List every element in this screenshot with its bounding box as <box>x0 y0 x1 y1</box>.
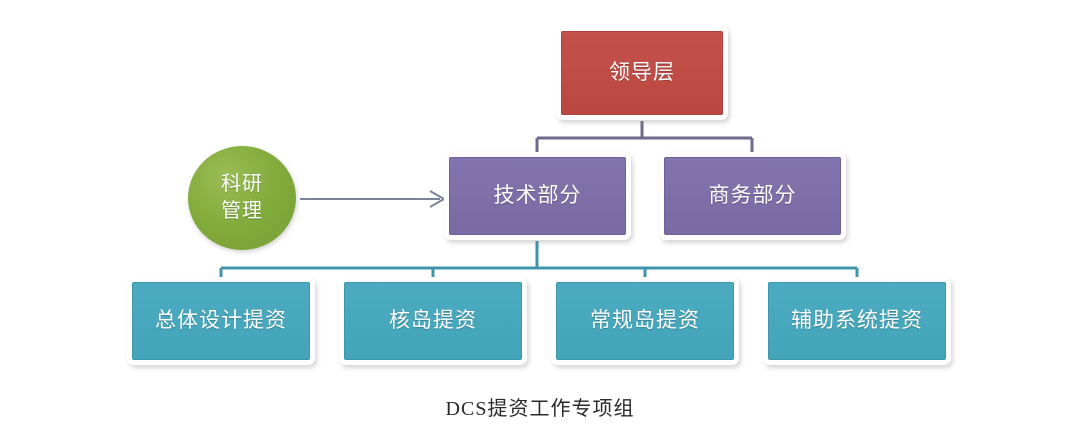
node-leadership-fill: 领导层 <box>561 31 723 115</box>
node-technical-section[interactable]: 技术部分 <box>444 152 631 240</box>
node-leadership-label: 领导层 <box>609 60 675 86</box>
node-business-section[interactable]: 商务部分 <box>659 152 846 240</box>
node-overall-design[interactable]: 总体设计提资 <box>127 277 315 365</box>
node-research-management[interactable]: 科研 管理 <box>188 146 296 250</box>
node-conventional-island-label: 常规岛提资 <box>590 308 700 334</box>
node-overall-design-fill: 总体设计提资 <box>132 282 310 360</box>
node-research-management-label: 科研 管理 <box>221 171 263 225</box>
node-conventional-island-fill: 常规岛提资 <box>556 282 734 360</box>
node-technical-section-label: 技术部分 <box>494 183 582 209</box>
org-chart-canvas: 科研 管理 领导层 技术部分 商务部分 总体设计提资 核岛提资 常规岛提资 <box>0 0 1080 427</box>
research-label-line-1: 科研 <box>221 171 263 198</box>
connector-leadership-to-departments <box>537 121 752 152</box>
node-business-section-fill: 商务部分 <box>664 157 841 235</box>
node-conventional-island[interactable]: 常规岛提资 <box>551 277 739 365</box>
node-nuclear-island-label: 核岛提资 <box>389 308 477 334</box>
node-nuclear-island-fill: 核岛提资 <box>344 282 522 360</box>
node-leadership[interactable]: 领导层 <box>556 26 728 120</box>
research-label-line-2: 管理 <box>221 198 263 225</box>
node-overall-design-label: 总体设计提资 <box>155 308 287 334</box>
connector-research-to-technical <box>300 191 444 207</box>
diagram-caption: DCS提资工作专项组 <box>0 392 1080 421</box>
node-auxiliary-system-fill: 辅助系统提资 <box>768 282 946 360</box>
node-auxiliary-system[interactable]: 辅助系统提资 <box>763 277 951 365</box>
node-technical-section-fill: 技术部分 <box>449 157 626 235</box>
connector-technical-to-subteams <box>221 241 857 277</box>
node-nuclear-island[interactable]: 核岛提资 <box>339 277 527 365</box>
node-business-section-label: 商务部分 <box>709 183 797 209</box>
node-auxiliary-system-label: 辅助系统提资 <box>791 308 923 334</box>
